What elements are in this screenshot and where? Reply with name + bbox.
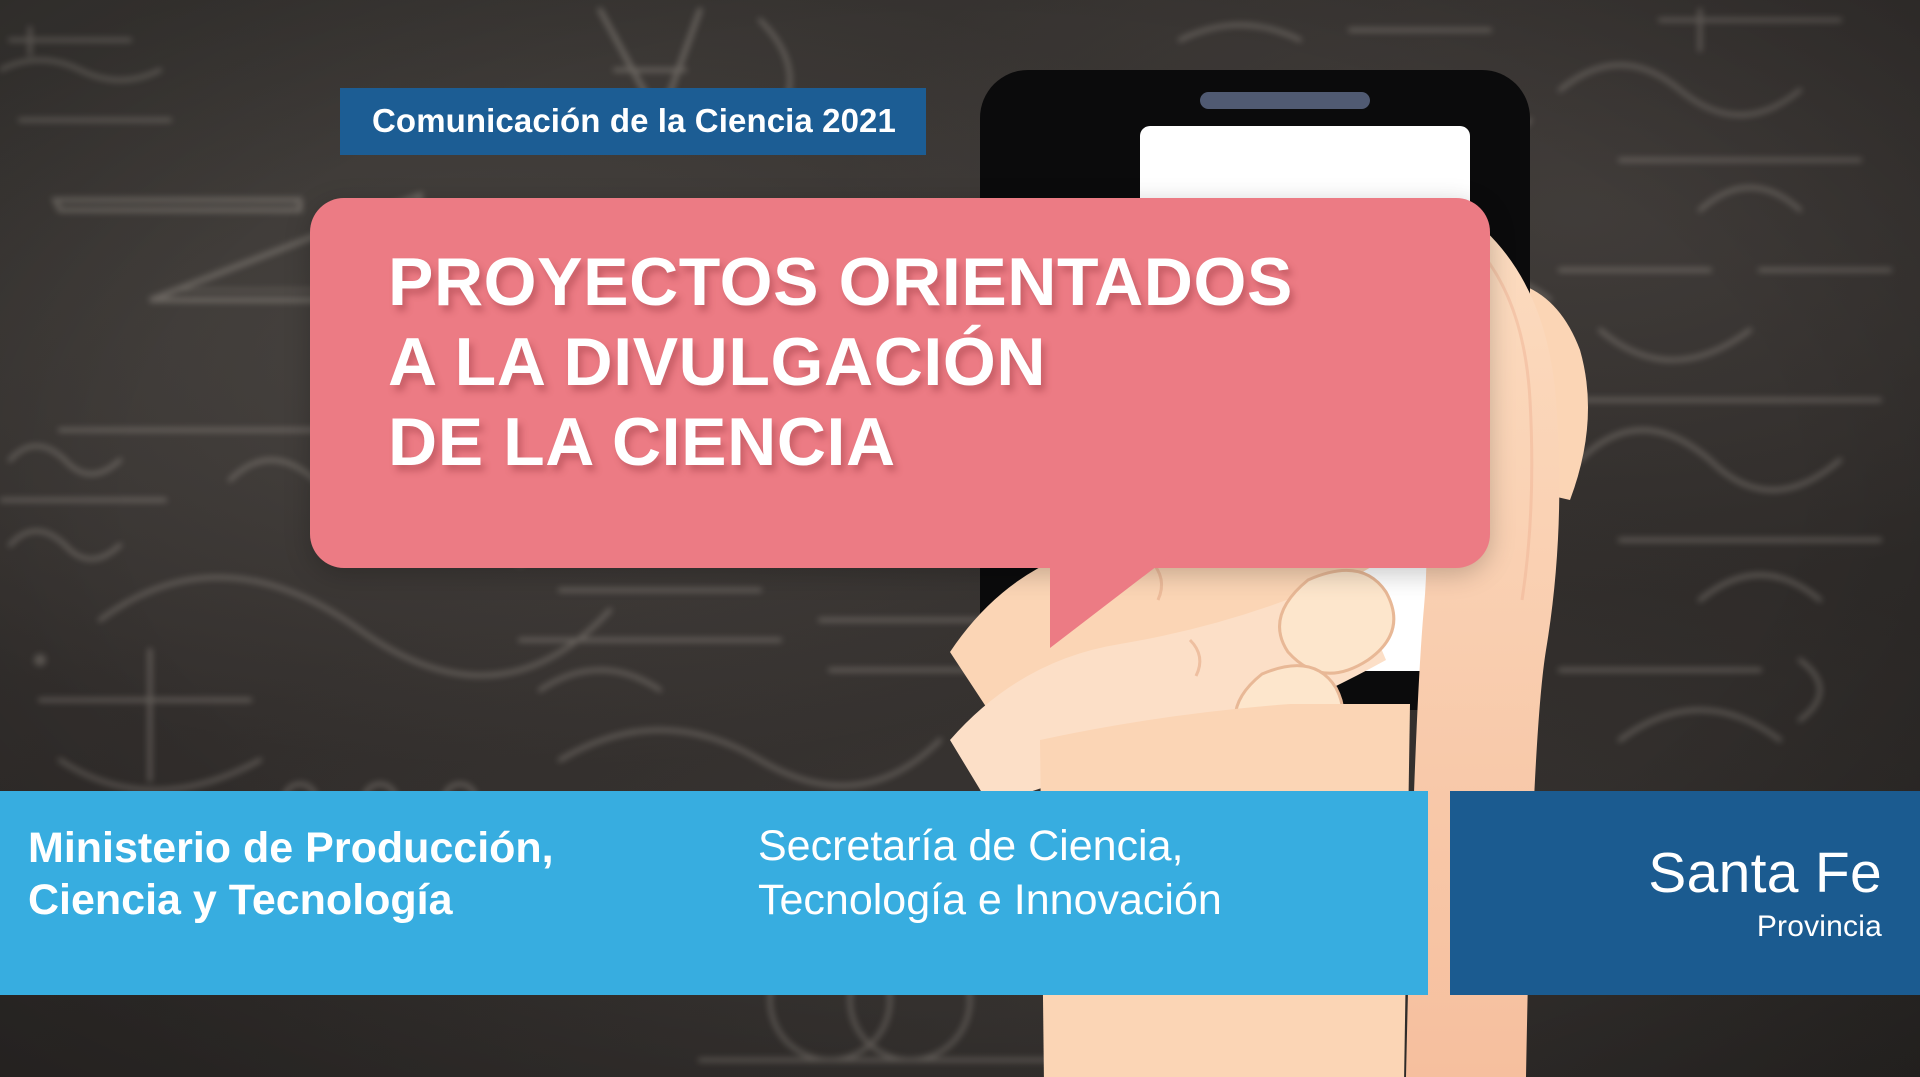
logo-main-text: Santa Fe xyxy=(1648,845,1882,902)
secretariat-name: Secretaría de Ciencia, Tecnología e Inno… xyxy=(758,820,1222,928)
eyebrow-tag: Comunicación de la Ciencia 2021 xyxy=(340,88,926,155)
ministry-name: Ministerio de Producción, Ciencia y Tecn… xyxy=(28,822,554,926)
speech-bubble-tail xyxy=(1050,556,1170,648)
logo-sub-text: Provincia xyxy=(1757,912,1882,942)
poster-canvas: Comunicación de la Ciencia 2021 PROYECTO… xyxy=(0,0,1920,1077)
page-title: PROYECTOS ORIENTADOS A LA DIVULGACIÓN DE… xyxy=(388,242,1293,483)
santa-fe-logo: Santa Fe Provincia xyxy=(1450,791,1920,995)
